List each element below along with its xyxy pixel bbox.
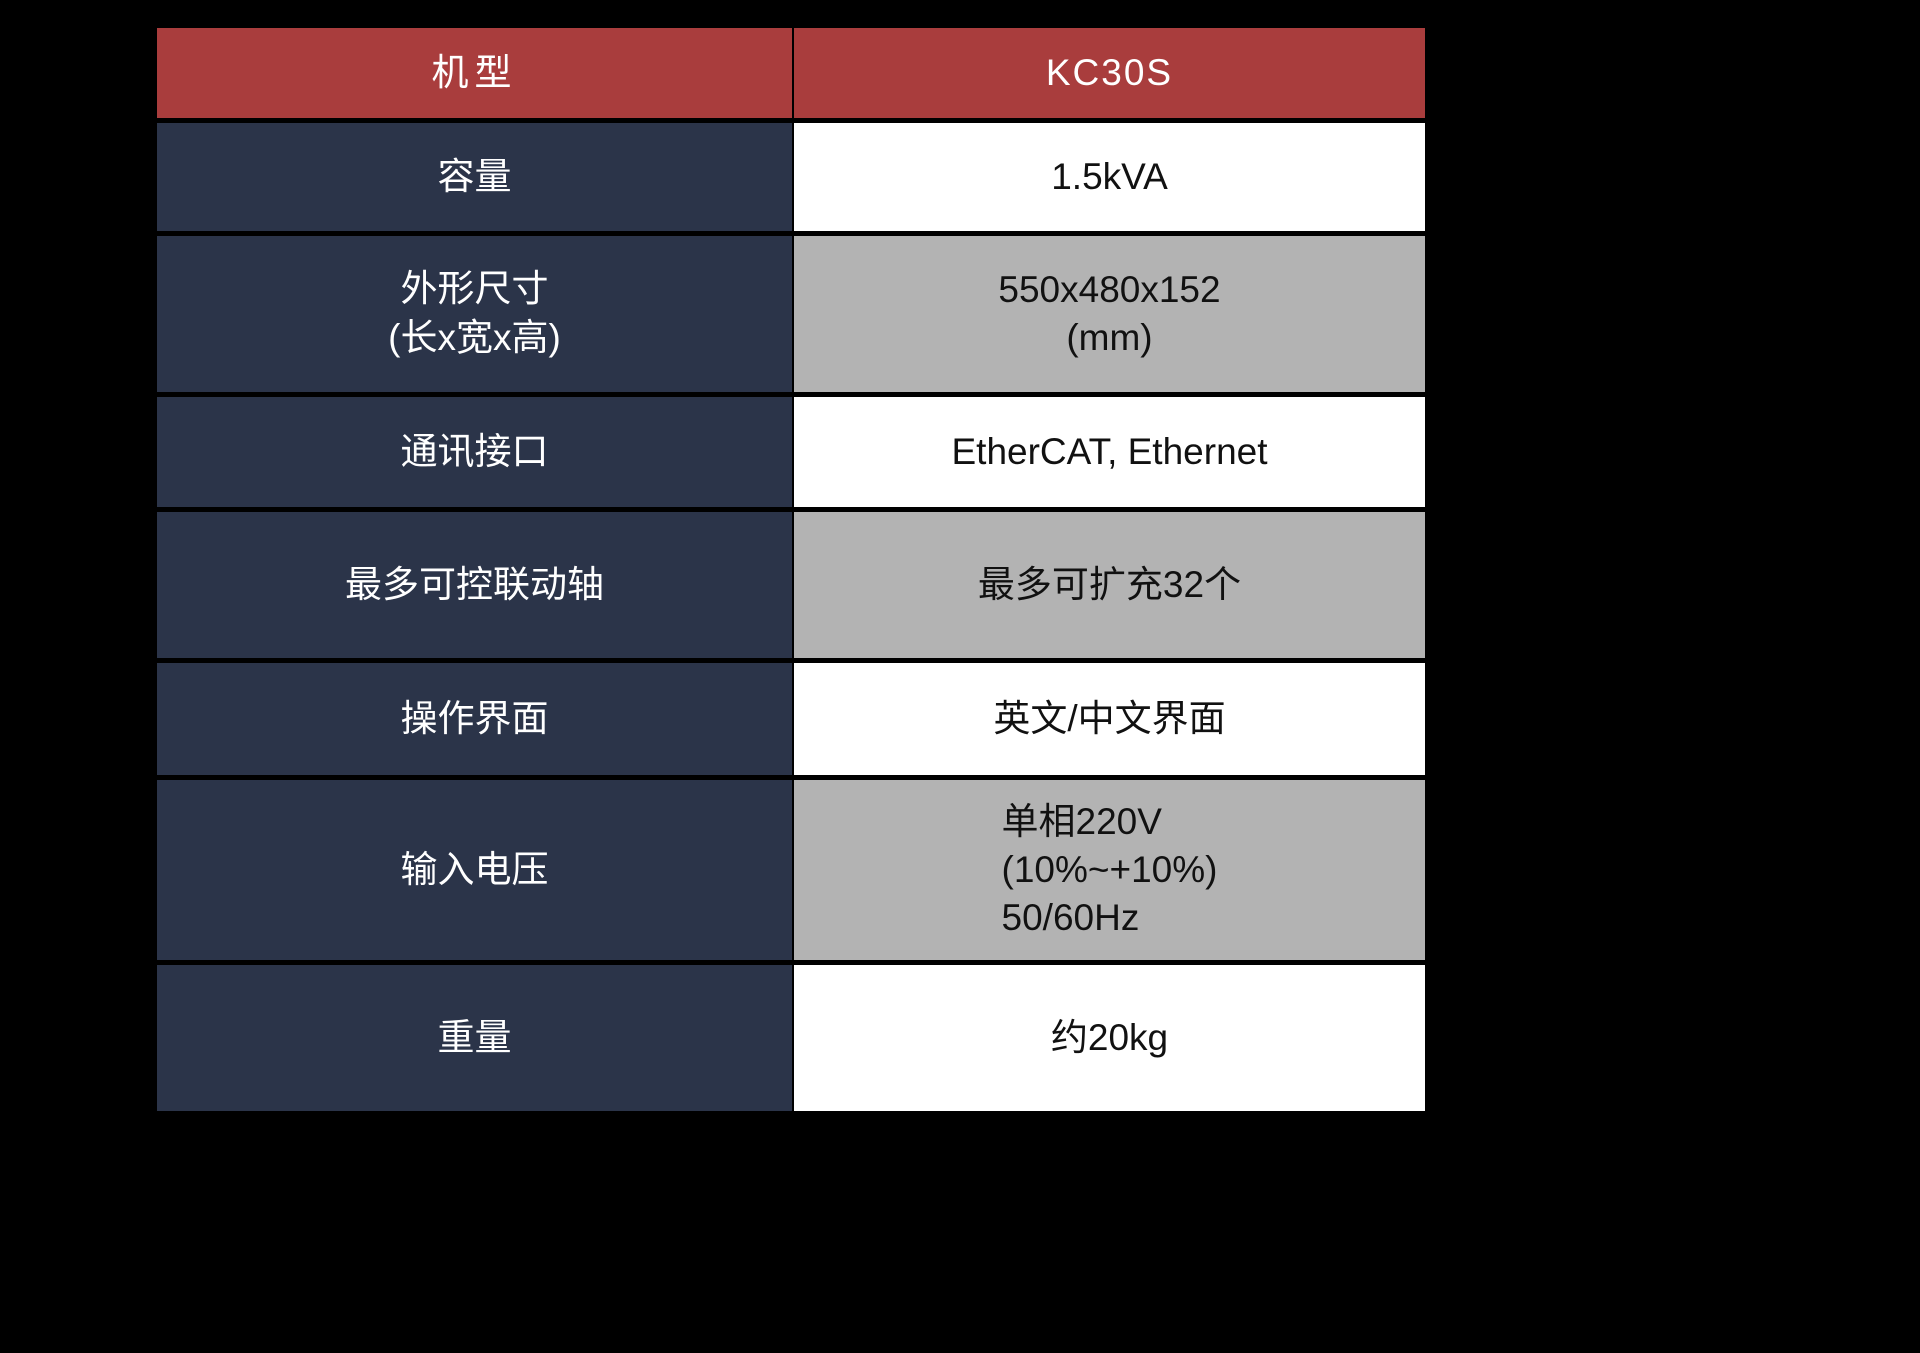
value-block: 最多可扩充32个 [978, 561, 1241, 609]
value-line: 1.5kVA [1051, 153, 1168, 201]
header-cell-model-label: 机型 [157, 28, 792, 118]
row-value-input-voltage: 单相220V (10%~+10%) 50/60Hz [794, 780, 1425, 960]
row-value-weight: 约20kg [794, 965, 1425, 1111]
table-row-operation-interface: 操作界面 英文/中文界面 [157, 663, 1425, 775]
specification-table: 机型 KC30S 容量 1.5kVA 外形尺寸 (长x宽x高) 550x480x… [157, 28, 1425, 1116]
value-line: EtherCAT, Ethernet [951, 428, 1267, 476]
row-value-dimensions: 550x480x152 (mm) [794, 236, 1425, 392]
label-text: 容量 [438, 153, 512, 202]
label-block: 外形尺寸 (长x宽x高) [388, 265, 561, 363]
header-model-text: 机型 [432, 49, 518, 98]
value-block: 1.5kVA [1051, 153, 1168, 201]
row-label-dimensions: 外形尺寸 (长x宽x高) [157, 236, 792, 392]
table-row-capacity: 容量 1.5kVA [157, 123, 1425, 231]
value-block: 英文/中文界面 [993, 695, 1225, 743]
value-line: 英文/中文界面 [993, 695, 1225, 743]
label-text: 最多可控联动轴 [345, 561, 604, 610]
row-label-communication-interface: 通讯接口 [157, 397, 792, 507]
value-block: EtherCAT, Ethernet [951, 428, 1267, 476]
header-model-value-text: KC30S [1046, 49, 1173, 97]
value-line: 最多可扩充32个 [978, 561, 1241, 609]
label-line-1: 外形尺寸 [388, 265, 561, 314]
label-text: 输入电压 [401, 846, 549, 895]
table-row-input-voltage: 输入电压 单相220V (10%~+10%) 50/60Hz [157, 780, 1425, 960]
label-line-2: (长x宽x高) [388, 314, 561, 363]
row-value-max-axes: 最多可扩充32个 [794, 512, 1425, 658]
value-block: 550x480x152 (mm) [998, 266, 1220, 362]
value-line-1: 单相220V [1002, 798, 1218, 846]
value-line-2: (10%~+10%) [1002, 846, 1218, 894]
row-label-max-axes: 最多可控联动轴 [157, 512, 792, 658]
row-label-operation-interface: 操作界面 [157, 663, 792, 775]
label-text: 重量 [438, 1014, 512, 1063]
table-row-weight: 重量 约20kg [157, 965, 1425, 1111]
row-label-weight: 重量 [157, 965, 792, 1111]
value-block: 约20kg [1051, 1014, 1168, 1062]
table-header-row: 机型 KC30S [157, 28, 1425, 118]
row-value-operation-interface: 英文/中文界面 [794, 663, 1425, 775]
header-cell-model-value: KC30S [794, 28, 1425, 118]
value-block: 单相220V (10%~+10%) 50/60Hz [1002, 798, 1218, 942]
row-value-capacity: 1.5kVA [794, 123, 1425, 231]
row-label-input-voltage: 输入电压 [157, 780, 792, 960]
table-row-max-axes: 最多可控联动轴 最多可扩充32个 [157, 512, 1425, 658]
row-value-communication-interface: EtherCAT, Ethernet [794, 397, 1425, 507]
value-line-2: (mm) [998, 314, 1220, 362]
label-text: 操作界面 [401, 695, 549, 744]
value-line-1: 550x480x152 [998, 266, 1220, 314]
table-row-dimensions: 外形尺寸 (长x宽x高) 550x480x152 (mm) [157, 236, 1425, 392]
table-row-communication-interface: 通讯接口 EtherCAT, Ethernet [157, 397, 1425, 507]
label-text: 通讯接口 [401, 428, 549, 477]
value-line-3: 50/60Hz [1002, 894, 1218, 942]
value-line: 约20kg [1051, 1014, 1168, 1062]
row-label-capacity: 容量 [157, 123, 792, 231]
